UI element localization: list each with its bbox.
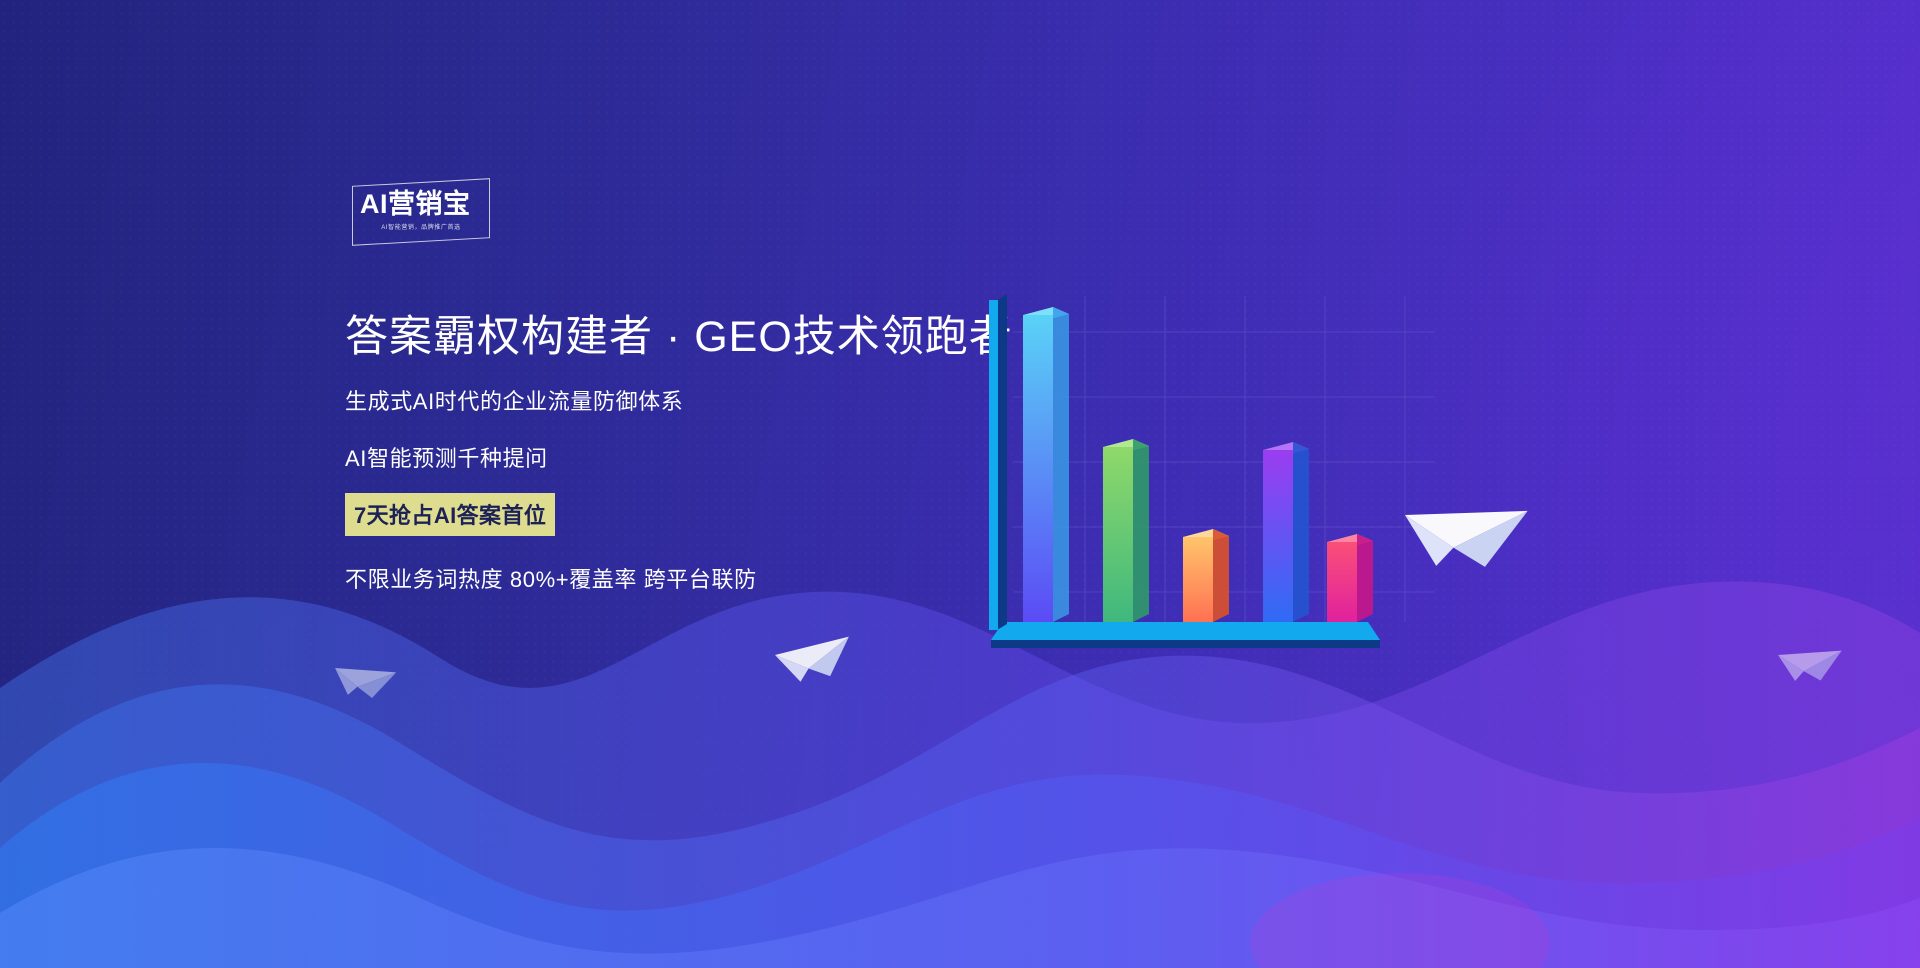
paper-plane-icon (335, 656, 400, 704)
paper-plane-icon (1778, 634, 1849, 691)
paper-plane-icon (775, 618, 861, 694)
hero-banner: AI营销宝 AI智能营销，品牌推广首选 答案霸权构建者 · GEO技术领跑者 生… (0, 0, 1920, 968)
paper-planes-group (0, 0, 1920, 968)
paper-plane-icon (1405, 479, 1540, 586)
